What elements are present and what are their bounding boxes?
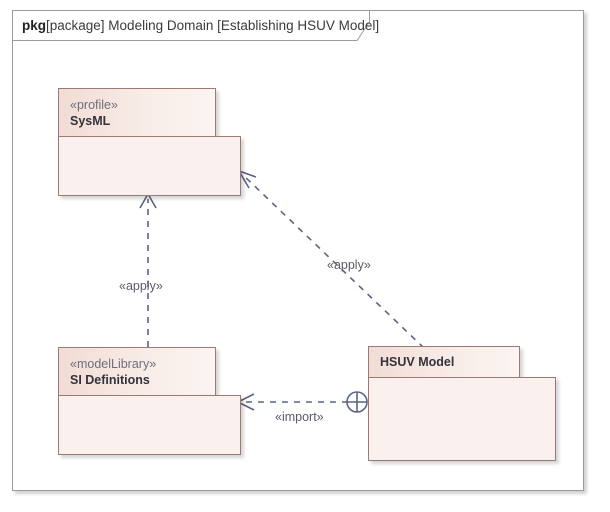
diagram-frame-header: pkg[package] Modeling Domain [Establishi… [12,10,370,41]
frame-header-label: pkg[package] Modeling Domain [Establishi… [22,10,379,41]
package-si-definitions-name: SI Definitions [70,372,209,388]
frame-header-title: [package] Modeling Domain [Establishing … [46,18,379,33]
package-hsuv-model-name: HSUV Model [380,354,513,370]
package-sysml-stereotype: «profile» [70,97,209,113]
package-si-definitions-tab: «modelLibrary» SI Definitions [58,347,216,396]
package-si-definitions-stereotype: «modelLibrary» [70,356,209,372]
package-sysml-tab: «profile» SysML [58,88,216,137]
package-hsuv-model-body [368,377,556,461]
package-sysml-body [58,136,241,196]
package-sysml-name: SysML [70,113,209,129]
edge-label-apply-hsuv: «apply» [327,258,371,272]
package-hsuv-model[interactable]: HSUV Model [368,346,556,461]
edge-label-import: «import» [275,410,324,424]
edge-label-apply-si: «apply» [119,279,163,293]
package-sysml[interactable]: «profile» SysML [58,88,241,196]
package-si-definitions[interactable]: «modelLibrary» SI Definitions [58,347,241,455]
frame-keyword: pkg [22,18,46,33]
package-si-definitions-body [58,395,241,455]
package-hsuv-model-tab: HSUV Model [368,346,520,378]
